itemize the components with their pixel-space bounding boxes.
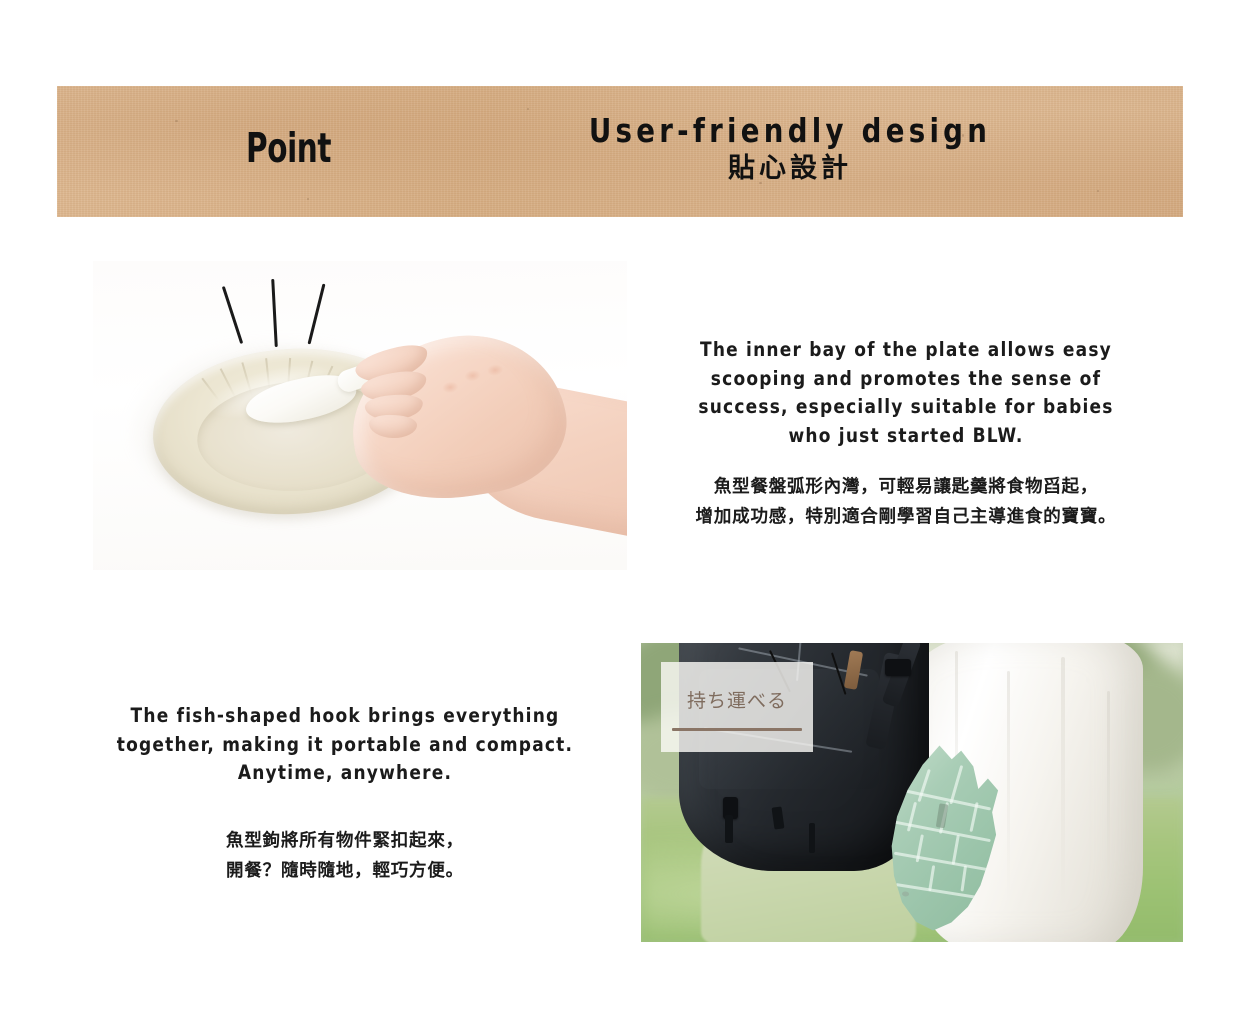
fish-eye-mark bbox=[902, 891, 909, 896]
banner-title-english: User-friendly design bbox=[424, 112, 1157, 150]
paragraph-line: 魚型鉤將所有物件緊扣起來， bbox=[86, 826, 604, 856]
paragraph-line: together, making it portable and compact… bbox=[94, 731, 596, 760]
paragraph-line: 魚型餐盤弧形內灣，可輕易讓匙羹將食物舀起， bbox=[660, 472, 1152, 502]
section-two-chinese-paragraph: 魚型鉤將所有物件緊扣起來， 開餐？隨時隨地，輕巧方便。 bbox=[86, 826, 604, 886]
plate-photo bbox=[93, 261, 627, 570]
photo-caption-text: 持ち運べる bbox=[661, 686, 813, 713]
paragraph-line: 增加成功感，特別適合剛學習自己主導進食的寶寶。 bbox=[660, 502, 1152, 532]
product-detail-page: Point User-friendly design 貼心設計 bbox=[0, 0, 1241, 1012]
section-one-english-paragraph: The inner bay of the plate allows easy s… bbox=[667, 336, 1144, 450]
section-one-text: The inner bay of the plate allows easy s… bbox=[660, 336, 1152, 532]
banner-title-chinese: 貼心設計 bbox=[396, 153, 1184, 185]
emphasis-line-left bbox=[222, 286, 243, 344]
paragraph-line: 開餐？隨時隨地，輕巧方便。 bbox=[86, 856, 604, 886]
paragraph-line: who just started BLW. bbox=[667, 422, 1144, 451]
section-two-text: The fish-shaped hook brings everything t… bbox=[86, 702, 604, 886]
photo-caption-panel: 持ち運べる bbox=[661, 662, 813, 752]
paragraph-line: scooping and promotes the sense of bbox=[667, 365, 1144, 394]
paragraph-line: success, especially suitable for babies bbox=[667, 393, 1144, 422]
photo-caption-underline bbox=[672, 728, 802, 731]
emphasis-line-right bbox=[308, 284, 326, 345]
paragraph-line: The fish-shaped hook brings everything bbox=[94, 702, 596, 731]
banner-title: User-friendly design 貼心設計 bbox=[396, 112, 1184, 185]
product-logo-mark bbox=[936, 803, 949, 828]
section-two-english-paragraph: The fish-shaped hook brings everything t… bbox=[94, 702, 596, 788]
point-label: Point bbox=[246, 128, 331, 169]
paragraph-line: The inner bay of the plate allows easy bbox=[667, 336, 1144, 365]
emphasis-line-center bbox=[271, 279, 278, 347]
section-one-chinese-paragraph: 魚型餐盤弧形內灣，可輕易讓匙羹將食物舀起， 增加成功感，特別適合剛學習自己主導進… bbox=[660, 472, 1152, 532]
paragraph-line: Anytime, anywhere. bbox=[94, 759, 596, 788]
